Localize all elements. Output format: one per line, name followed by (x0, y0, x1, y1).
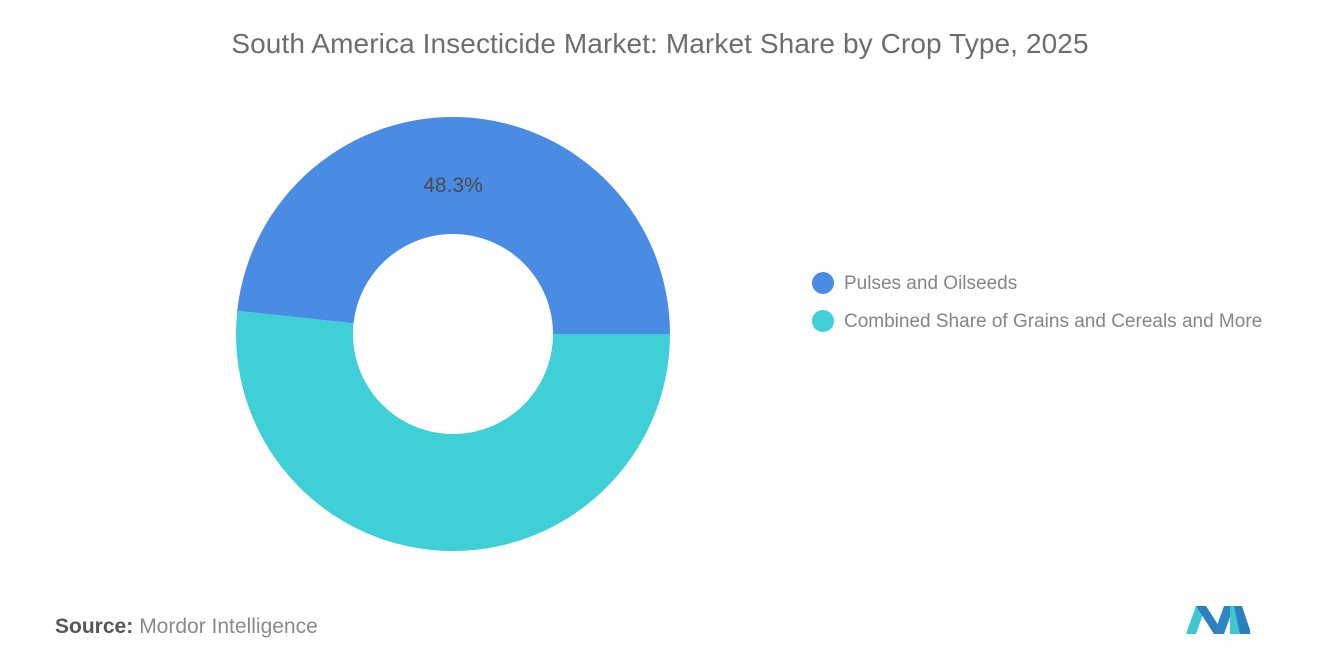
legend-swatch-icon-combined-share-of-grains-and-cereals-and-more (812, 310, 834, 332)
legend-swatch-icon-pulses-and-oilseeds (812, 272, 834, 294)
legend-label-combined-share-of-grains-and-cereals-and-more: Combined Share of Grains and Cereals and… (844, 308, 1262, 336)
donut-chart: 48.3% (236, 117, 670, 551)
legend-item-pulses-and-oilseeds[interactable]: Pulses and Oilseeds (812, 270, 1292, 298)
donut-chart-svg (236, 117, 670, 551)
page-title: South America Insecticide Market: Market… (0, 28, 1320, 60)
donut-slice-2[interactable] (236, 311, 670, 551)
source-value: Mordor Intelligence (139, 615, 318, 638)
chart-legend: Pulses and Oilseeds Combined Share of Gr… (812, 270, 1292, 346)
donut-slice-group (236, 117, 670, 551)
source-label: Source: (55, 615, 133, 638)
mordor-intelligence-logo-icon (1184, 600, 1252, 638)
legend-label-pulses-and-oilseeds: Pulses and Oilseeds (844, 270, 1017, 298)
source-attribution: Source:Mordor Intelligence (55, 612, 318, 642)
legend-item-combined-share-of-grains-and-cereals-and-more[interactable]: Combined Share of Grains and Cereals and… (812, 308, 1292, 336)
donut-slice-1[interactable] (237, 117, 670, 334)
